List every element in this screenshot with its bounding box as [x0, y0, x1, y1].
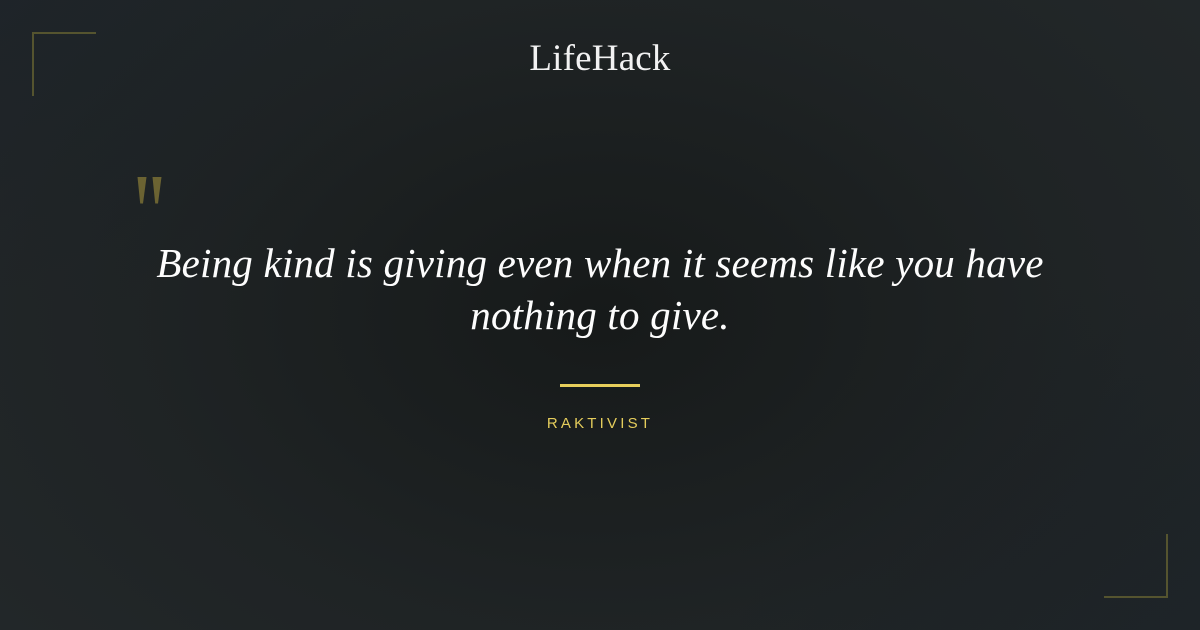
- attribution-divider: [560, 384, 640, 387]
- quote-card: LifeHack Being kind is giving even when …: [0, 0, 1200, 630]
- quote-block: Being kind is giving even when it seems …: [0, 238, 1200, 341]
- quote-mark-icon: [134, 176, 168, 212]
- quote-text: Being kind is giving even when it seems …: [135, 238, 1065, 341]
- brand-logo: LifeHack: [0, 40, 1200, 77]
- attribution-name: RAKTIVIST: [0, 415, 1200, 432]
